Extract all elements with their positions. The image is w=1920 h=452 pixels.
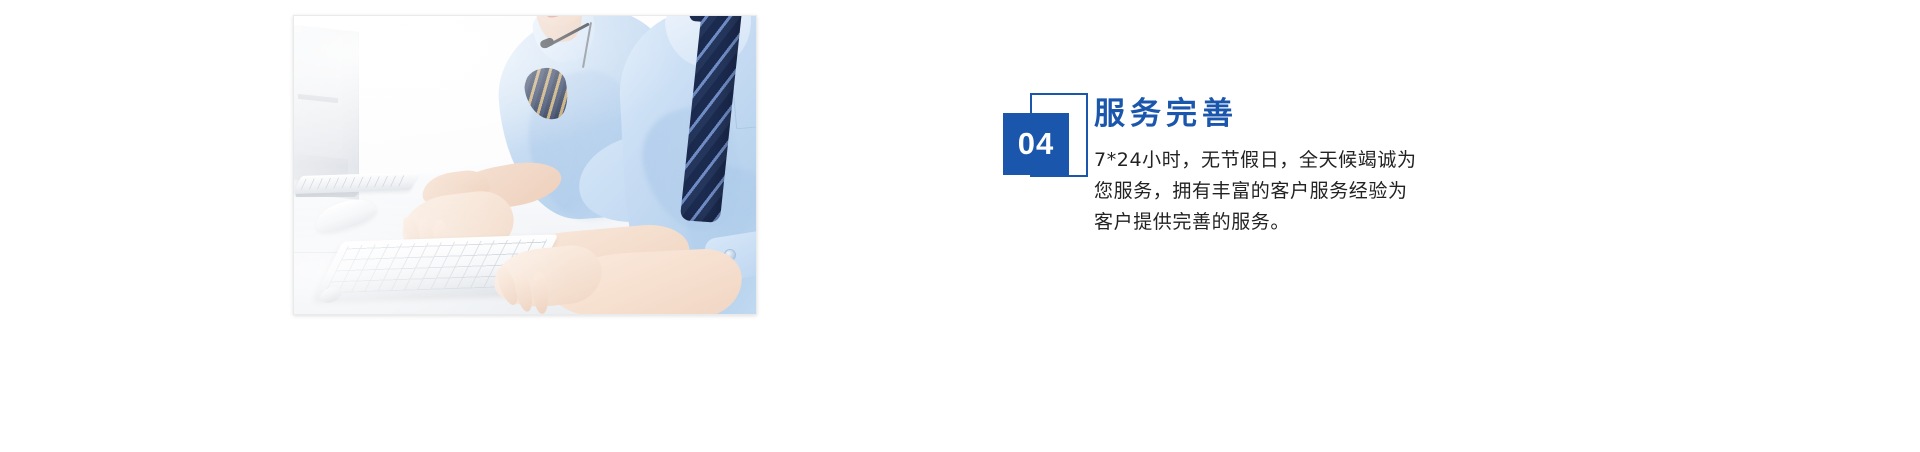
description-line: 您服务，拥有丰富的客户服务经验为 — [1094, 176, 1494, 207]
section-title: 服务完善 — [1094, 96, 1514, 133]
customer-service-photo — [293, 15, 757, 315]
description-line: 客户提供完善的服务。 — [1094, 207, 1494, 238]
photo-canvas — [294, 16, 756, 314]
shirt-pocket — [732, 78, 756, 130]
section-description: 7*24小时，无节假日，全天候竭诚为 您服务，拥有丰富的客户服务经验为 客户提供… — [1094, 145, 1494, 237]
section-text-column: 服务完善 7*24小时，无节假日，全天候竭诚为 您服务，拥有丰富的客户服务经验为… — [1094, 96, 1514, 237]
badge-number: 04 — [1003, 113, 1069, 175]
promo-section: 04 服务完善 7*24小时，无节假日，全天候竭诚为 您服务，拥有丰富的客户服务… — [0, 0, 1920, 452]
description-line: 7*24小时，无节假日，全天候竭诚为 — [1094, 145, 1494, 176]
